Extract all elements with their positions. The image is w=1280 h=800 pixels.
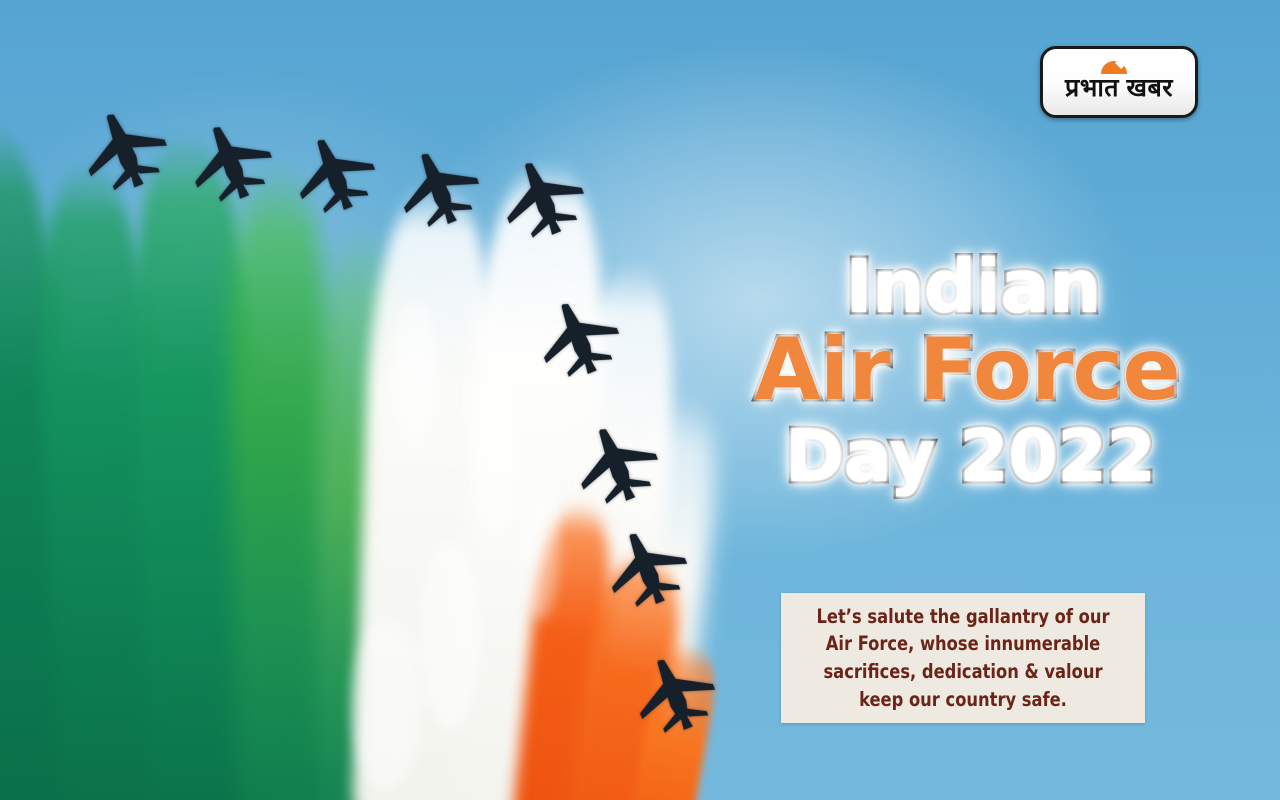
quote-box: Let’s salute the gallantry of our Air Fo…	[781, 593, 1145, 723]
logo-wordmark: प्रभात खबर	[1065, 73, 1173, 103]
headline-line-indian: Indian	[766, 252, 1180, 322]
smoke-wisp	[352, 620, 422, 790]
poster-headline: Indian Air Force Day 2022	[760, 252, 1180, 490]
headline-line-air-force: Air Force	[754, 330, 1180, 412]
sun-bird-icon	[1096, 52, 1142, 74]
headline-line-day-2022: Day 2022	[760, 422, 1180, 490]
smoke-wisp	[392, 300, 438, 450]
smoke-wisp	[520, 470, 560, 620]
quote-text: Let’s salute the gallantry of our Air Fo…	[794, 603, 1133, 714]
prabhat-khabar-logo[interactable]: प्रभात खबर	[1040, 46, 1198, 118]
poster-canvas: प्रभात खबर Indian Air Force Day 2022 Let…	[0, 0, 1280, 800]
smoke-wisp	[420, 540, 480, 730]
smoke-wisp	[470, 360, 522, 540]
